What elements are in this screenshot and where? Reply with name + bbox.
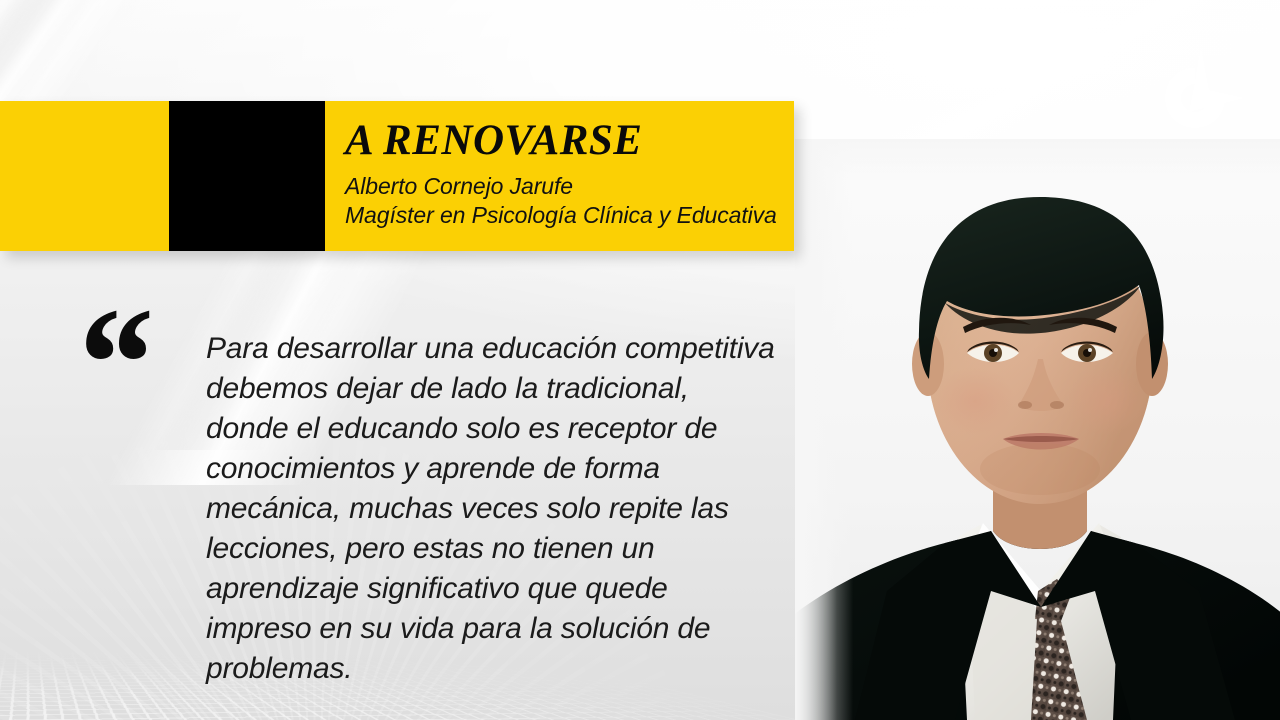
brand-logo-icon [1143,46,1247,150]
quote-line: debemos dejar de lado la tradicional, [206,369,806,409]
quote-line: impreso en su vida para la solución de [206,609,806,649]
quote-line: mecánica, muchas veces solo repite las [206,489,806,529]
portrait-illustration [795,139,1280,720]
author-credential: Magíster en Psicología Clínica y Educati… [345,201,794,230]
quote-line: lecciones, pero estas no tienen un [206,529,806,569]
header-text-group: A RENOVARSE Alberto Cornejo Jarufe Magís… [345,101,794,251]
quote-line: Para desarrollar una educación competiti… [206,329,806,369]
author-name: Alberto Cornejo Jarufe [345,162,794,201]
header-black-block [169,101,325,251]
portrait-photo [795,139,1280,720]
brand-logo[interactable] [1143,46,1247,150]
quote-mark-icon: “ [71,283,145,443]
quote-text: Para desarrollar una educación competiti… [206,329,806,689]
page-title: A RENOVARSE [345,101,794,162]
quote-line: aprendizaje significativo que quede [206,569,806,609]
slide-canvas: A RENOVARSE Alberto Cornejo Jarufe Magís… [0,0,1280,720]
quote-line: donde el educando solo es receptor de [206,409,806,449]
quote-line: problemas. [206,649,806,689]
quote-line: conocimientos y aprende de forma [206,449,806,489]
header-band: A RENOVARSE Alberto Cornejo Jarufe Magís… [0,101,794,251]
